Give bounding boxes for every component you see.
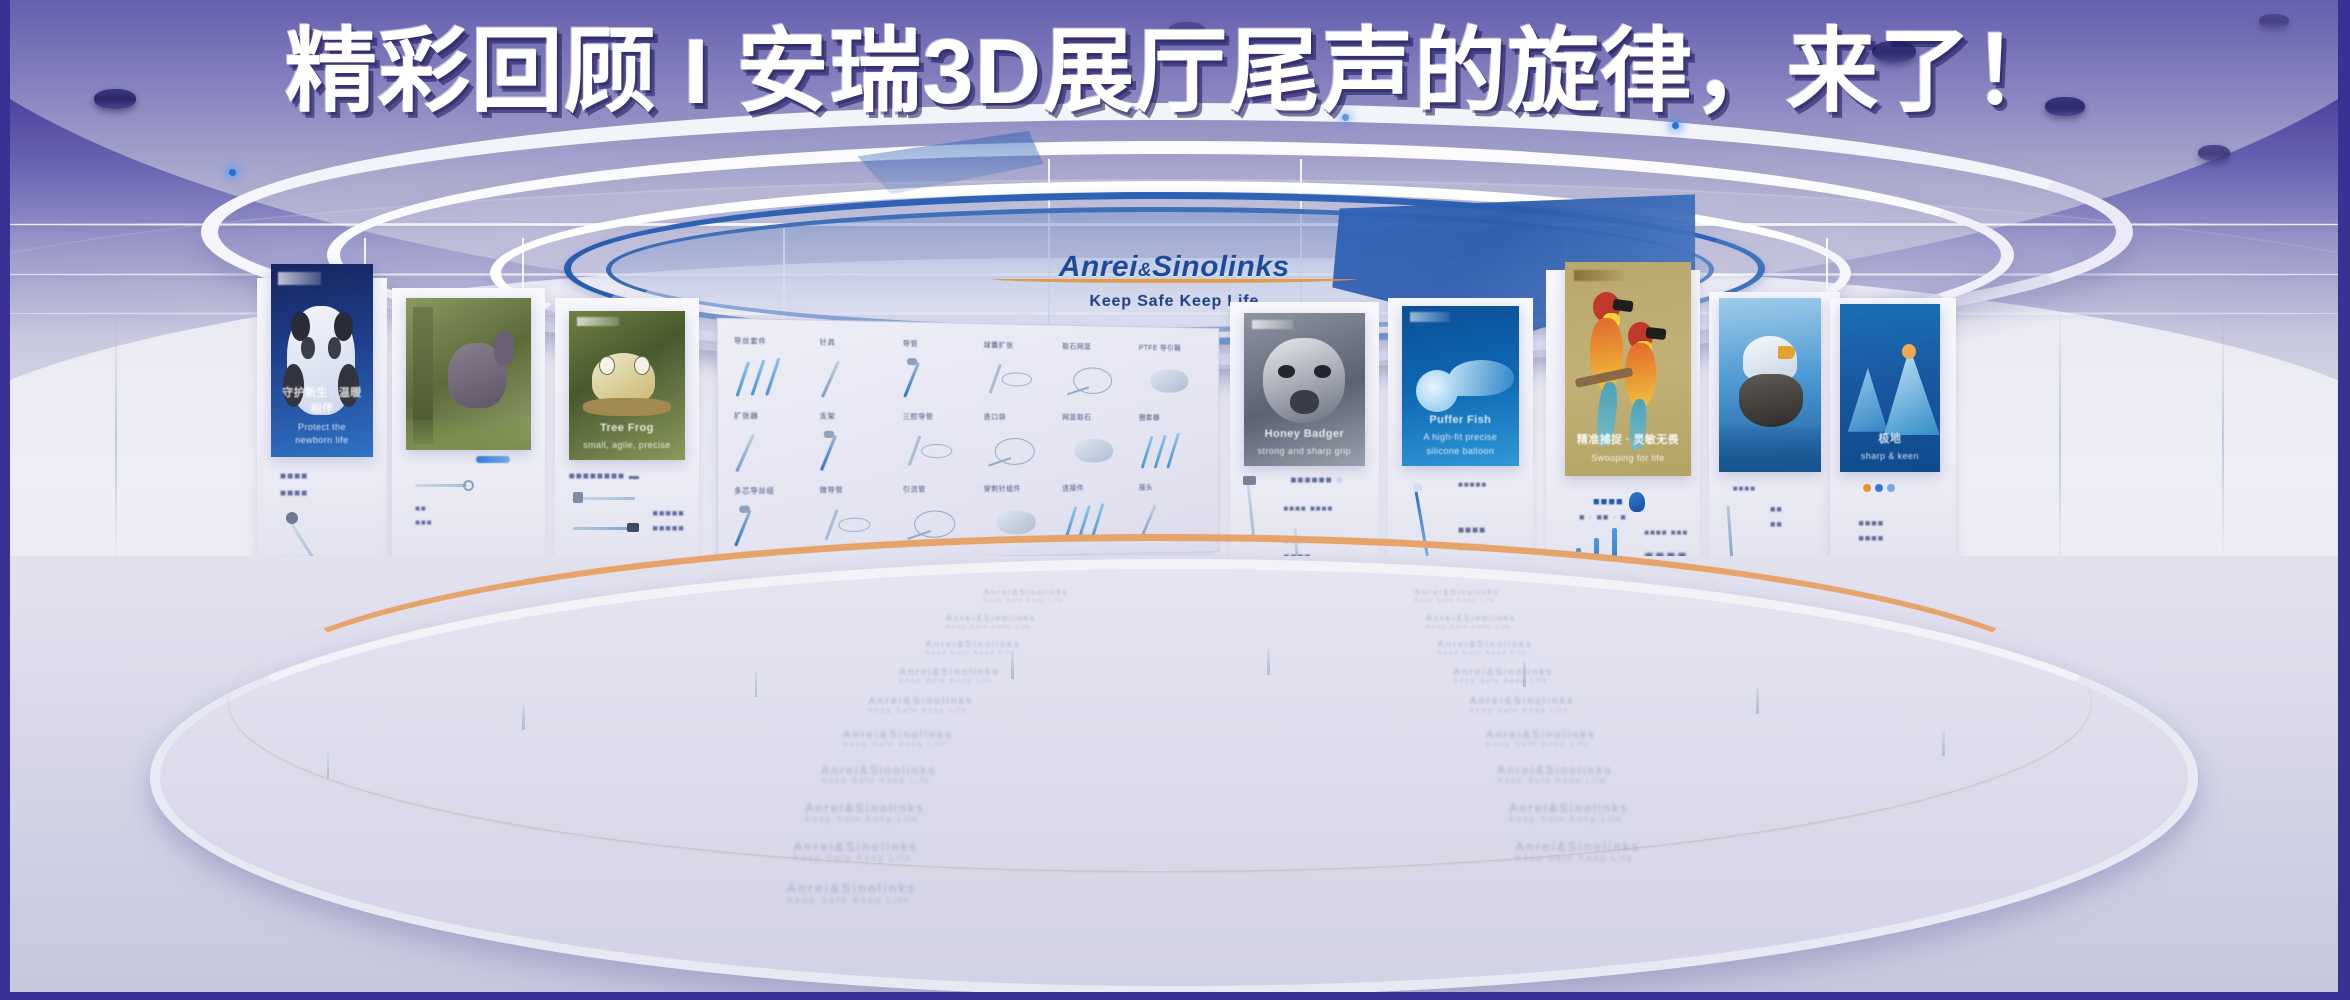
product-cell: 导丝套件 xyxy=(734,336,814,407)
product-cell: 支架 xyxy=(819,412,897,481)
product-cell-label: 球囊扩张 xyxy=(983,341,1057,352)
panel-label-badger: ■■■■■■ ○ xyxy=(1290,472,1343,489)
product-cell-image xyxy=(737,505,811,552)
product-cell-image xyxy=(986,360,1054,405)
product-cell-label: 支架 xyxy=(819,412,897,423)
poster-caption: 极地 sharp & keen xyxy=(1847,431,1933,464)
railing-post xyxy=(1756,688,1759,714)
floor-watermark-text: Anrei&SinolinksKeep Safe Keep Life xyxy=(946,614,1036,630)
floor-watermark-text: Anrei&SinolinksKeep Safe Keep Life xyxy=(984,589,1069,604)
panel-label-panda: ■■■■■■■■ xyxy=(280,468,308,502)
poster-caption: 精准捕捉 · 灵敏无畏 Swooping for life xyxy=(1574,432,1682,465)
product-cell-label: 连接件 xyxy=(1062,483,1134,493)
exhibition-hall-banner: Anrei&Sinolinks Keep Safe Keep Life 守护新生… xyxy=(0,0,2350,1000)
panel-label-deer: ■■■■■ xyxy=(415,502,433,529)
product-cell-label: 造口袋 xyxy=(983,413,1057,423)
panel-label-frog: ■■■■■■■■ ▬ xyxy=(569,468,640,485)
product-cell-label: 微导管 xyxy=(819,485,897,496)
product-cell-label: 圈套器 xyxy=(1139,413,1209,423)
poster-glacier: 极地 sharp & keen xyxy=(1840,304,1940,473)
product-cell-image xyxy=(1141,432,1205,475)
poster-frog: Tree Frog small, agile, precise xyxy=(569,311,685,460)
product-cell-label: 接头 xyxy=(1139,483,1209,493)
ceiling-light-icon xyxy=(2198,145,2230,161)
railing-post xyxy=(1011,653,1014,679)
poster-panda: 守护新生 · 温暖相伴 Protect the newborn life xyxy=(271,264,373,457)
floor-watermark-text: Anrei&SinolinksKeep Safe Keep Life xyxy=(1437,639,1532,656)
product-image-deer-panel xyxy=(415,480,475,490)
product-display-board: 导丝套件针具导管球囊扩张取石网篮PTFE 导引鞘扩张器支架三腔导管造口袋网篮取石… xyxy=(716,318,1218,563)
floor-watermark-text: Anrei&SinolinksKeep Safe Keep Life xyxy=(787,882,917,905)
wall-seam xyxy=(115,308,117,566)
product-cell-label: 扩张器 xyxy=(734,411,814,422)
poster-caption: Honey Badger strong and sharp grip xyxy=(1252,426,1356,459)
floor-watermark-text: Anrei&SinolinksKeep Safe Keep Life xyxy=(1509,802,1629,824)
panel-text-glacier: ■■■■■■■■ xyxy=(1858,516,1884,547)
floor-watermark-text: Anrei&SinolinksKeep Safe Keep Life xyxy=(1469,696,1574,715)
wall-seam xyxy=(2059,298,2061,576)
product-cell-label: 穿刺针组件 xyxy=(983,484,1057,495)
product-cell-label: 针具 xyxy=(819,338,897,350)
product-cell-label: 多芯导丝组 xyxy=(734,486,814,497)
floor-watermark-text: Anrei&SinolinksKeep Safe Keep Life xyxy=(1515,841,1640,864)
panel-label-eagle: ■■■■ xyxy=(1733,482,1756,496)
product-cell: 取石网篮 xyxy=(1062,342,1134,409)
product-cell: 针具 xyxy=(819,338,897,408)
floor-watermark-text: Anrei&SinolinksKeep Safe Keep Life xyxy=(1414,589,1499,604)
stage-railing xyxy=(229,534,2091,871)
poster-logo xyxy=(1410,312,1450,322)
railing-post xyxy=(755,671,758,697)
product-image-frog-panel-2 xyxy=(573,522,645,534)
product-cell-image xyxy=(906,358,976,403)
ring-light-dot xyxy=(229,169,236,176)
floor-watermark-text: Anrei&SinolinksKeep Safe Keep Life xyxy=(805,802,925,824)
product-cell: 球囊扩张 xyxy=(983,341,1057,409)
poster-caption: 守护新生 · 温暖相伴 Protect the newborn life xyxy=(278,385,366,448)
product-cell: 圈套器 xyxy=(1139,413,1209,478)
product-cell-image xyxy=(906,431,976,476)
product-cell-image xyxy=(1065,432,1131,476)
floor-watermark-text: Anrei&SinolinksKeep Safe Keep Life xyxy=(1486,729,1596,749)
product-cell: 扩张器 xyxy=(734,411,814,481)
product-cell: PTFE 导引鞘 xyxy=(1139,343,1209,409)
product-cell-label: 导管 xyxy=(903,339,979,350)
poster-logo xyxy=(1574,270,1624,281)
product-cell: 网篮取石 xyxy=(1062,413,1134,479)
poster-caption: Puffer Fish A high-fit precise silicone … xyxy=(1410,412,1510,459)
panel-spec-bee-eaters: ■■■■ ■■■ xyxy=(1644,526,1688,540)
page-title: 精彩回顾 I 安瑞3D展厅尾声的旋律，来了！ xyxy=(0,18,2350,127)
floor-watermark-text: Anrei&SinolinksKeep Safe Keep Life xyxy=(1426,614,1516,630)
product-cell-label: PTFE 导引鞘 xyxy=(1139,343,1209,354)
poster-deer xyxy=(406,298,532,451)
product-cell-label: 导丝套件 xyxy=(734,336,814,348)
floor-watermark-text: Anrei&SinolinksKeep Safe Keep Life xyxy=(899,667,999,685)
product-image-frog-panel xyxy=(573,492,645,504)
product-cell-label: 三腔导管 xyxy=(903,412,979,422)
wall-seam xyxy=(2222,308,2224,566)
frame-edge-bottom xyxy=(0,992,2350,1000)
product-cell-image xyxy=(986,431,1054,475)
panel-footer-badger: ■■■■ ■■■■ xyxy=(1283,502,1333,516)
product-cell-label: 网篮取石 xyxy=(1062,413,1134,423)
product-cell-image xyxy=(1065,361,1131,405)
floor-watermark-text: Anrei&SinolinksKeep Safe Keep Life xyxy=(843,729,953,749)
panel-accent-bar xyxy=(476,456,510,463)
product-cell-image xyxy=(737,356,811,403)
product-cell-image xyxy=(1141,362,1205,406)
floor-watermark-text: Anrei&SinolinksKeep Safe Keep Life xyxy=(925,639,1020,656)
product-image-eagle-panel xyxy=(1728,500,1758,558)
product-cell-label: 引流管 xyxy=(903,485,979,496)
poster-honey-badger: Honey Badger strong and sharp grip xyxy=(1244,313,1365,466)
poster-bee-eaters: 精准捕捉 · 灵敏无畏 Swooping for life xyxy=(1565,262,1691,476)
floor-watermark-text: Anrei&SinolinksKeep Safe Keep Life xyxy=(869,696,974,715)
poster-logo xyxy=(1252,320,1293,329)
railing-post xyxy=(327,752,330,778)
floor-watermark-text: Anrei&SinolinksKeep Safe Keep Life xyxy=(1453,667,1553,685)
product-cell-image xyxy=(737,431,811,477)
panel-label-puffer: ■■■■■ xyxy=(1458,478,1487,492)
railing-post xyxy=(522,704,525,730)
floor-watermark-text: Anrei&SinolinksKeep Safe Keep Life xyxy=(1497,764,1612,785)
floor-watermark-text: Anrei&SinolinksKeep Safe Keep Life xyxy=(822,764,937,785)
brand-swoosh-icon xyxy=(992,275,1357,283)
showroom-scene: Anrei&Sinolinks Keep Safe Keep Life 守护新生… xyxy=(10,0,2338,992)
poster-eagle xyxy=(1719,298,1821,473)
railing-post xyxy=(1267,649,1270,675)
product-cell: 造口袋 xyxy=(983,413,1057,480)
frame-edge-right xyxy=(2338,0,2350,1000)
panel-label-bee-eaters: ■ · ■■ · ■ xyxy=(1579,510,1627,525)
product-cell: 三腔导管 xyxy=(903,412,979,480)
railing-post xyxy=(1942,730,1945,756)
product-cell-image xyxy=(822,431,894,477)
product-cell-label: 取石网篮 xyxy=(1062,342,1134,353)
poster-logo xyxy=(577,317,619,326)
poster-logo xyxy=(278,272,321,286)
product-cell-image xyxy=(822,357,894,403)
panel-footer-frog: ■■■■■■■■■■ xyxy=(653,506,685,537)
panel-accent-dots-glacier xyxy=(1863,484,1895,492)
poster-puffer: Puffer Fish A high-fit precise silicone … xyxy=(1402,306,1518,467)
floor-watermark-text: Anrei&SinolinksKeep Safe Keep Life xyxy=(794,841,919,864)
panel-text-eagle: ■■■■ xyxy=(1770,502,1783,533)
frame-edge-left xyxy=(0,0,10,1000)
poster-caption: Tree Frog small, agile, precise xyxy=(577,420,677,453)
product-cell: 导管 xyxy=(903,339,979,408)
